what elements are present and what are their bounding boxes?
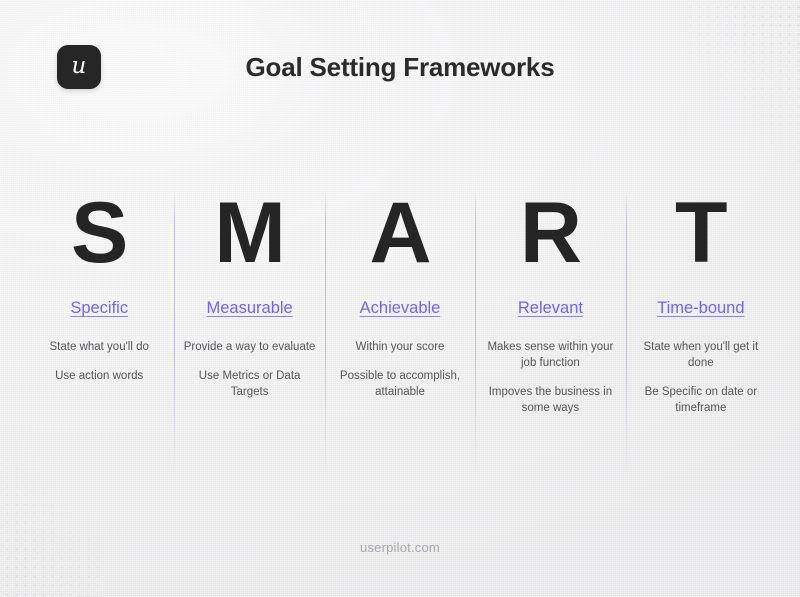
column-description: Provide a way to evaluate	[182, 339, 316, 355]
smart-column-achievable: A Achievable Within your score Possible …	[325, 185, 475, 485]
column-description: Use Metrics or Data Targets	[182, 368, 316, 400]
column-letter: A	[333, 185, 467, 281]
smart-column-specific: S Specific State what you'll do Use acti…	[24, 185, 174, 485]
column-word-link[interactable]: Relevant	[483, 297, 617, 319]
column-letter: M	[182, 185, 316, 281]
smart-column-time-bound: T Time-bound State when you'll get it do…	[626, 185, 776, 485]
smart-column-measurable: M Measurable Provide a way to evaluate U…	[174, 185, 324, 485]
column-description: State what you'll do	[32, 339, 166, 355]
column-word-link[interactable]: Time-bound	[634, 297, 768, 319]
column-description: Impoves the business in some ways	[483, 384, 617, 416]
column-word-link[interactable]: Measurable	[182, 297, 316, 319]
page-title: Goal Setting Frameworks	[0, 52, 800, 83]
column-word-link[interactable]: Achievable	[333, 297, 467, 319]
smart-columns: S Specific State what you'll do Use acti…	[24, 185, 776, 485]
column-description: Makes sense within your job function	[483, 339, 617, 371]
column-description: State when you'll get it done	[634, 339, 768, 371]
column-word-link[interactable]: Specific	[32, 297, 166, 319]
column-description: Be Specific on date or timeframe	[634, 384, 768, 416]
footer-site-url: userpilot.com	[0, 540, 800, 555]
smart-goal-poster: u Goal Setting Frameworks S Specific Sta…	[0, 0, 800, 597]
column-letter: S	[32, 185, 166, 281]
smart-column-relevant: R Relevant Makes sense within your job f…	[475, 185, 625, 485]
header: u Goal Setting Frameworks	[0, 0, 800, 130]
column-description: Use action words	[32, 368, 166, 384]
column-description: Within your score	[333, 339, 467, 355]
column-letter: R	[483, 185, 617, 281]
column-description: Possible to accomplish, attainable	[333, 368, 467, 400]
column-letter: T	[634, 185, 768, 281]
